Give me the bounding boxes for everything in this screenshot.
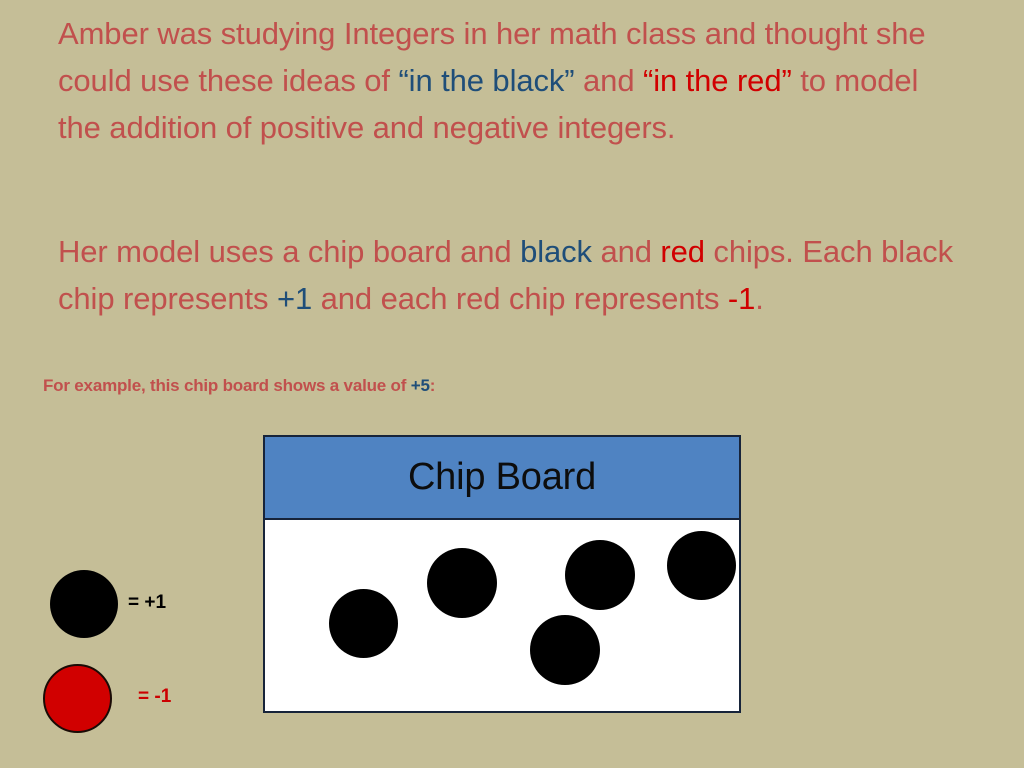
paragraph-model-text-4: and each red chip represents [312, 281, 728, 316]
legend-chip-red [43, 664, 112, 733]
chip-board-title: Chip Board [408, 458, 596, 498]
paragraph-model: Her model uses a chip board and black an… [58, 228, 958, 322]
example-caption: For example, this chip board shows a val… [43, 376, 435, 396]
example-caption-value: +5 [411, 376, 430, 395]
legend-label-red: = -1 [138, 686, 171, 708]
word-red: red [660, 234, 705, 269]
paragraph-intro: Amber was studying Integers in her math … [58, 10, 958, 151]
phrase-in-the-black: “in the black” [398, 63, 574, 98]
chip-board-header: Chip Board [265, 437, 739, 520]
chip-board: Chip Board [263, 435, 741, 713]
board-chip-5[interactable] [530, 615, 600, 685]
paragraph-model-text-1: Her model uses a chip board and [58, 234, 520, 269]
legend-chip-black [50, 570, 118, 638]
value-minus-one: -1 [728, 281, 755, 316]
legend-label-black: = +1 [128, 592, 166, 614]
example-caption-text-before: For example, this chip board shows a val… [43, 376, 411, 395]
board-chip-1[interactable] [329, 589, 398, 658]
paragraph-model-text-5: . [755, 281, 764, 316]
board-chip-3[interactable] [565, 540, 635, 610]
slide-canvas: Amber was studying Integers in her math … [0, 0, 1024, 768]
board-chip-4[interactable] [667, 531, 736, 600]
paragraph-intro-text-2: and [575, 63, 643, 98]
value-plus-one: +1 [277, 281, 312, 316]
example-caption-text-after: : [430, 376, 435, 395]
paragraph-model-text-2: and [592, 234, 660, 269]
word-black: black [520, 234, 592, 269]
phrase-in-the-red: “in the red” [643, 63, 792, 98]
board-chip-2[interactable] [427, 548, 497, 618]
chip-board-surface [265, 520, 739, 711]
